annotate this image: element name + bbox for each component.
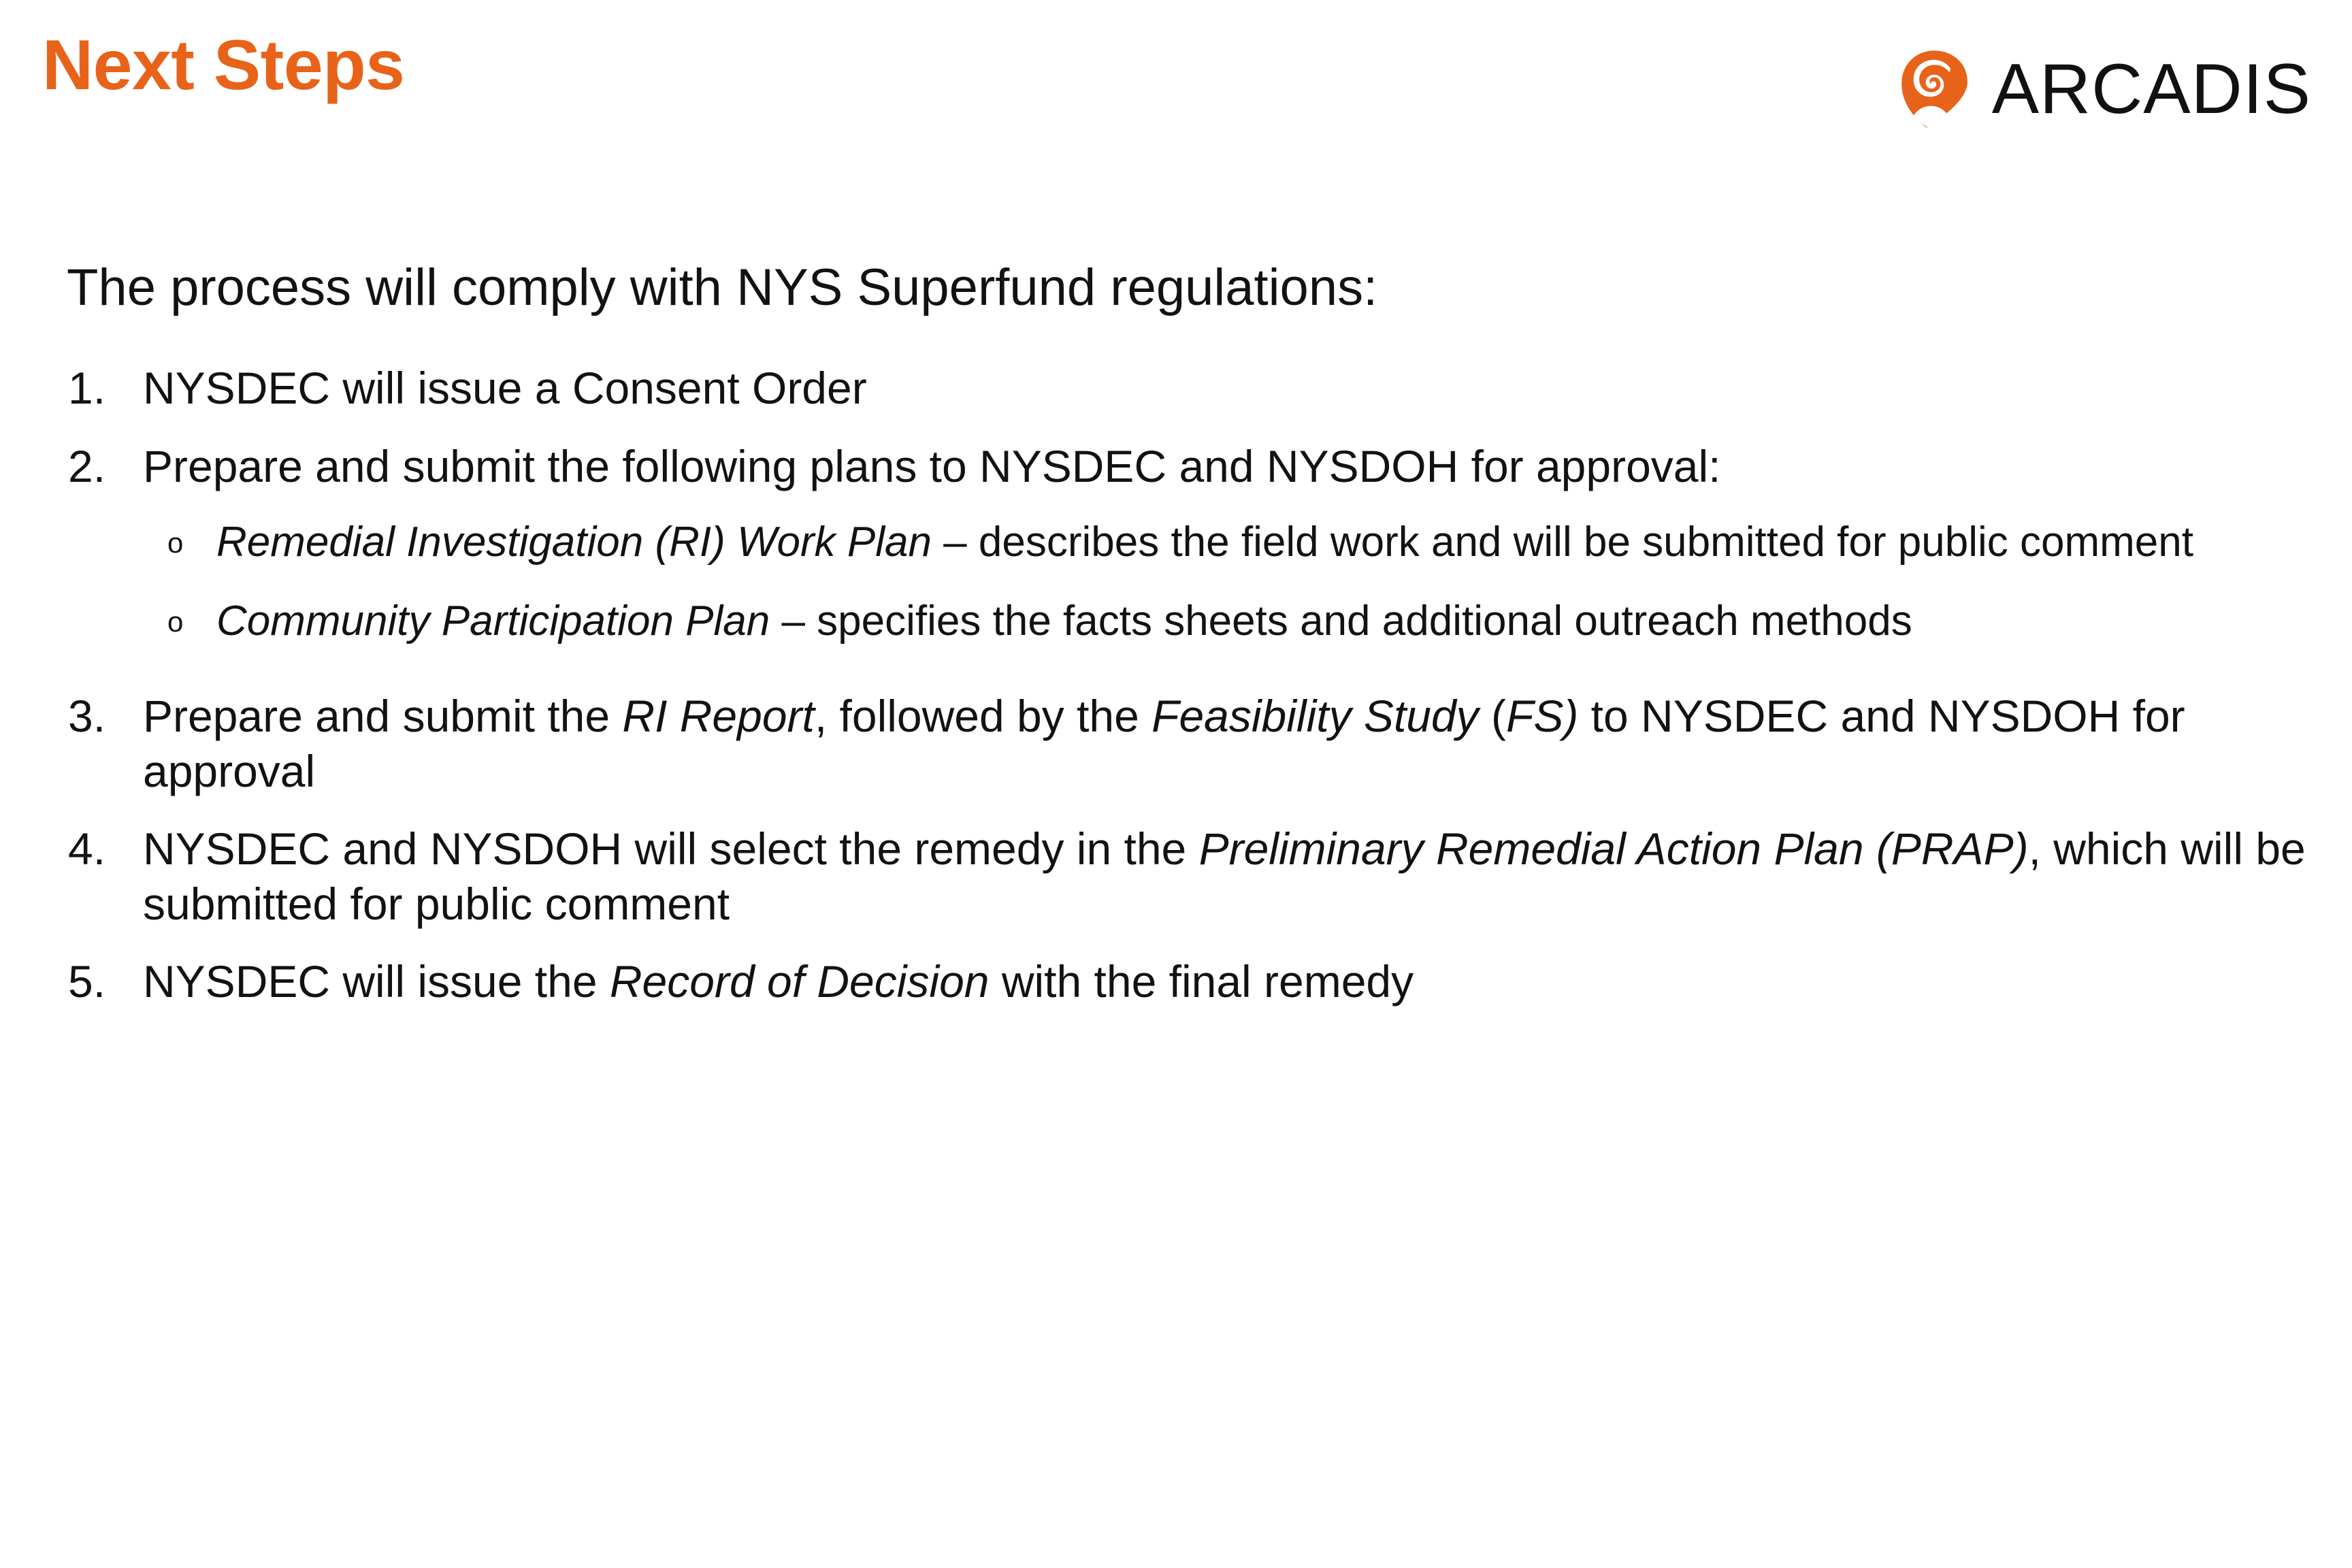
emphasis-text: Preliminary Remedial Action Plan (PRAP) xyxy=(1199,823,2029,874)
slide-body: The process will comply with NYS Superfu… xyxy=(0,225,2352,1568)
sub-list: oRemedial Investigation (RI) Work Plan –… xyxy=(143,517,2311,648)
emphasis-text: Feasibility Study xyxy=(1151,691,1479,741)
body-text: – describes the field work and will be s… xyxy=(932,519,2193,566)
list-marker: 5. xyxy=(61,954,143,1009)
sub-list-item: oRemedial Investigation (RI) Work Plan –… xyxy=(143,517,2311,570)
arcadis-wordmark: ARCADIS xyxy=(1992,54,2311,125)
arcadis-logo: ARCADIS xyxy=(1894,49,2311,129)
emphasis-text: Record of Decision xyxy=(610,956,990,1007)
page-title: Next Steps xyxy=(42,26,405,105)
list-marker: 3. xyxy=(61,689,143,744)
list-item-text: Prepare and submit the RI Report, follow… xyxy=(143,689,2311,798)
body-text: , followed by the xyxy=(815,691,1151,741)
slide-header: Next Steps ARCADIS xyxy=(0,0,2352,170)
body-text: with the final remedy xyxy=(989,956,1414,1007)
body-text: Prepare and submit the xyxy=(143,691,622,741)
list-item: 3.Prepare and submit the RI Report, foll… xyxy=(61,689,2311,798)
list-item: 5.NYSDEC will issue the Record of Decisi… xyxy=(61,954,2311,1009)
sub-list-item-text: Remedial Investigation (RI) Work Plan – … xyxy=(216,517,2311,569)
body-text: NYSDEC and NYSDOH will select the remedy… xyxy=(143,823,1199,874)
emphasis-text: Remedial Investigation (RI) Work Plan xyxy=(216,519,932,566)
list-item-text: NYSDEC and NYSDOH will select the remedy… xyxy=(143,821,2311,931)
sub-list-item: oCommunity Participation Plan – specifie… xyxy=(143,595,2311,649)
list-item: 2.Prepare and submit the following plans… xyxy=(61,439,2311,666)
emphasis-text: RI Report xyxy=(622,691,814,741)
body-text: Prepare and submit the following plans t… xyxy=(143,441,1720,491)
arcadis-swirl-icon xyxy=(1894,49,1974,129)
next-steps-list: 1.NYSDEC will issue a Consent Order2.Pre… xyxy=(61,361,2311,1032)
sub-list-marker: o xyxy=(143,517,216,570)
body-text: – specifies the facts sheets and additio… xyxy=(770,598,1912,644)
list-item-text: Prepare and submit the following plans t… xyxy=(143,439,2311,666)
list-item: 4.NYSDEC and NYSDOH will select the reme… xyxy=(61,821,2311,931)
body-text: NYSDEC will issue a Consent Order xyxy=(143,363,867,413)
list-item-text: NYSDEC will issue a Consent Order xyxy=(143,361,2311,416)
list-marker: 4. xyxy=(61,821,143,877)
emphasis-text: Community Participation Plan xyxy=(216,598,770,644)
list-item: 1.NYSDEC will issue a Consent Order xyxy=(61,361,2311,416)
slide-canvas: Next Steps ARCADIS The process will comp… xyxy=(0,0,2352,1568)
body-text: ( xyxy=(1479,691,1506,741)
emphasis-text: FS) xyxy=(1506,691,1578,741)
sub-list-item-text: Community Participation Plan – specifies… xyxy=(216,595,2311,648)
list-item-text: NYSDEC will issue the Record of Decision… xyxy=(143,954,2311,1009)
lead-in-text: The process will comply with NYS Superfu… xyxy=(67,257,1377,318)
sub-list-marker: o xyxy=(143,595,216,649)
list-marker: 1. xyxy=(61,361,143,416)
body-text: NYSDEC will issue the xyxy=(143,956,610,1007)
list-marker: 2. xyxy=(61,439,143,494)
